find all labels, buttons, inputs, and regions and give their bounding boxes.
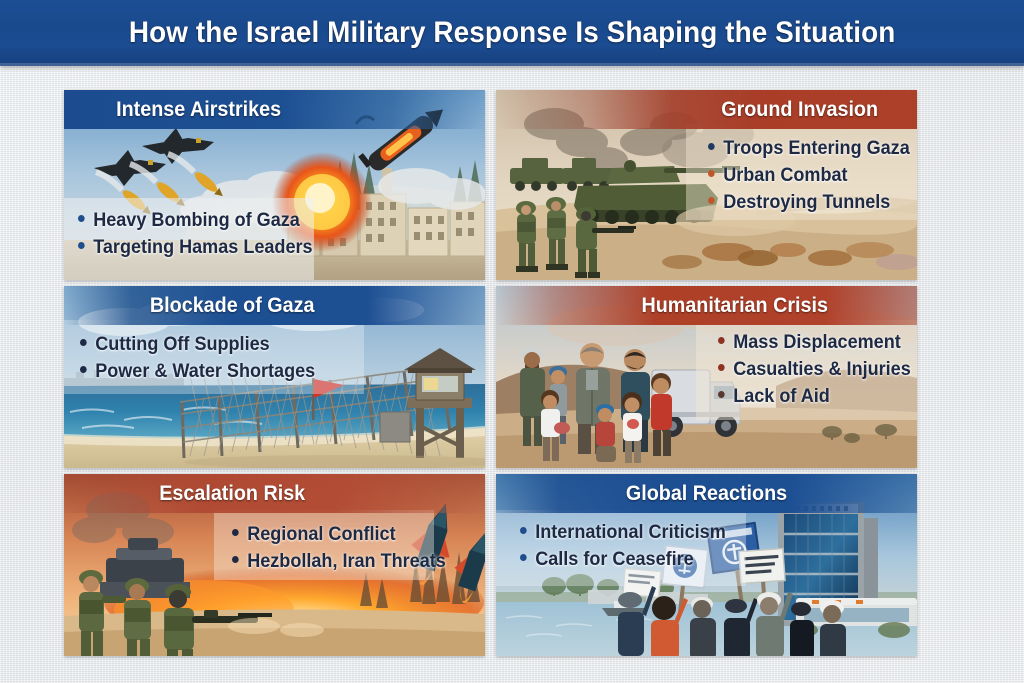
list-item: International Criticism <box>520 522 726 544</box>
bullet-list-blockade-of-gaza: Cutting Off Supplies Power & Water Short… <box>80 334 328 388</box>
bullet-dot-icon <box>232 529 239 536</box>
bullet-text: Casualties & Injuries <box>733 359 911 381</box>
bullet-dot-icon <box>708 197 715 204</box>
list-item: Casualties & Injuries <box>718 359 911 381</box>
bullet-text: International Criticism <box>535 522 726 544</box>
bullet-text: Power & Water Shortages <box>95 361 315 383</box>
bullet-text: Mass Displacement <box>733 332 901 354</box>
list-item: Heavy Bombing of Gaza <box>78 210 313 232</box>
bullet-dot-icon <box>708 143 715 150</box>
page-title: How the Israel Military Response Is Shap… <box>129 16 895 50</box>
bullet-text: Troops Entering Gaza <box>723 138 910 160</box>
bullet-dot-icon <box>718 391 725 398</box>
bullet-dot-icon <box>78 215 85 222</box>
panel-global-reactions[interactable]: Global Reactions International Criticism… <box>496 474 917 656</box>
panel-header-ground-invasion: Ground Invasion <box>496 90 917 129</box>
list-item: Cutting Off Supplies <box>80 334 315 356</box>
infographic-title-bar: How the Israel Military Response Is Shap… <box>0 0 1024 66</box>
bullet-text: Targeting Hamas Leaders <box>93 237 312 259</box>
bullet-text: Calls for Ceasefire <box>535 549 694 571</box>
list-item: Destroying Tunnels <box>708 192 910 214</box>
bullet-text: Urban Combat <box>723 165 847 187</box>
bullet-dot-icon <box>520 554 527 561</box>
panel-header-humanitarian-crisis: Humanitarian Crisis <box>496 286 917 325</box>
list-item: Regional Conflict <box>232 524 446 546</box>
bullet-dot-icon <box>718 364 725 371</box>
bullet-dot-icon <box>78 242 85 249</box>
bullet-dot-icon <box>232 556 239 563</box>
list-item: Hezbollah, Iran Threats <box>232 551 446 573</box>
list-item: Targeting Hamas Leaders <box>78 237 313 259</box>
panel-header-global-reactions: Global Reactions <box>496 474 917 513</box>
bullet-text: Regional Conflict <box>247 524 395 546</box>
bullet-list-global-reactions: International Criticism Calls for Ceasef… <box>520 522 737 576</box>
list-item: Lack of Aid <box>718 386 911 408</box>
panel-grid: Intense Airstrikes Heavy Bombing of Gaza… <box>64 90 960 656</box>
panel-title: Blockade of Gaza <box>77 294 473 318</box>
bullet-dot-icon <box>708 170 715 177</box>
bullet-text: Hezbollah, Iran Threats <box>247 551 446 573</box>
panel-title: Ground Invasion <box>509 98 905 122</box>
bullet-list-ground-invasion: Troops Entering Gaza Urban Combat Destro… <box>708 138 917 219</box>
bullet-dot-icon <box>80 339 87 346</box>
bullet-text: Heavy Bombing of Gaza <box>93 210 300 232</box>
bullet-dot-icon <box>718 337 725 344</box>
panel-header-intense-airstrikes: Intense Airstrikes <box>64 90 485 129</box>
bullet-text: Lack of Aid <box>733 386 830 408</box>
bullet-list-intense-airstrikes: Heavy Bombing of Gaza Targeting Hamas Le… <box>78 210 325 264</box>
bullet-text: Cutting Off Supplies <box>95 334 269 356</box>
panel-header-blockade-of-gaza: Blockade of Gaza <box>64 286 485 325</box>
bullet-list-humanitarian-crisis: Mass Displacement Casualties & Injuries … <box>718 332 917 413</box>
bullet-text: Destroying Tunnels <box>723 192 890 214</box>
list-item: Mass Displacement <box>718 332 911 354</box>
panel-intense-airstrikes[interactable]: Intense Airstrikes Heavy Bombing of Gaza… <box>64 90 485 280</box>
panel-title: Humanitarian Crisis <box>509 294 905 318</box>
bullet-dot-icon <box>520 527 527 534</box>
panel-title: Escalation Risk <box>77 482 473 506</box>
bullet-dot-icon <box>80 366 87 373</box>
list-item: Troops Entering Gaza <box>708 138 910 160</box>
panel-title: Intense Airstrikes <box>77 98 473 122</box>
panel-blockade-of-gaza[interactable]: Blockade of Gaza Cutting Off Supplies Po… <box>64 286 485 468</box>
list-item: Calls for Ceasefire <box>520 549 726 571</box>
panel-humanitarian-crisis[interactable]: Humanitarian Crisis Mass Displacement Ca… <box>496 286 917 468</box>
panel-ground-invasion[interactable]: Ground Invasion Troops Entering Gaza Urb… <box>496 90 917 280</box>
panel-title: Global Reactions <box>509 482 905 506</box>
list-item: Urban Combat <box>708 165 910 187</box>
panel-escalation-risk[interactable]: Escalation Risk Regional Conflict Hezbol… <box>64 474 485 656</box>
list-item: Power & Water Shortages <box>80 361 315 383</box>
bullet-list-escalation-risk: Regional Conflict Hezbollah, Iran Threat… <box>232 524 457 578</box>
panel-header-escalation-risk: Escalation Risk <box>64 474 485 513</box>
